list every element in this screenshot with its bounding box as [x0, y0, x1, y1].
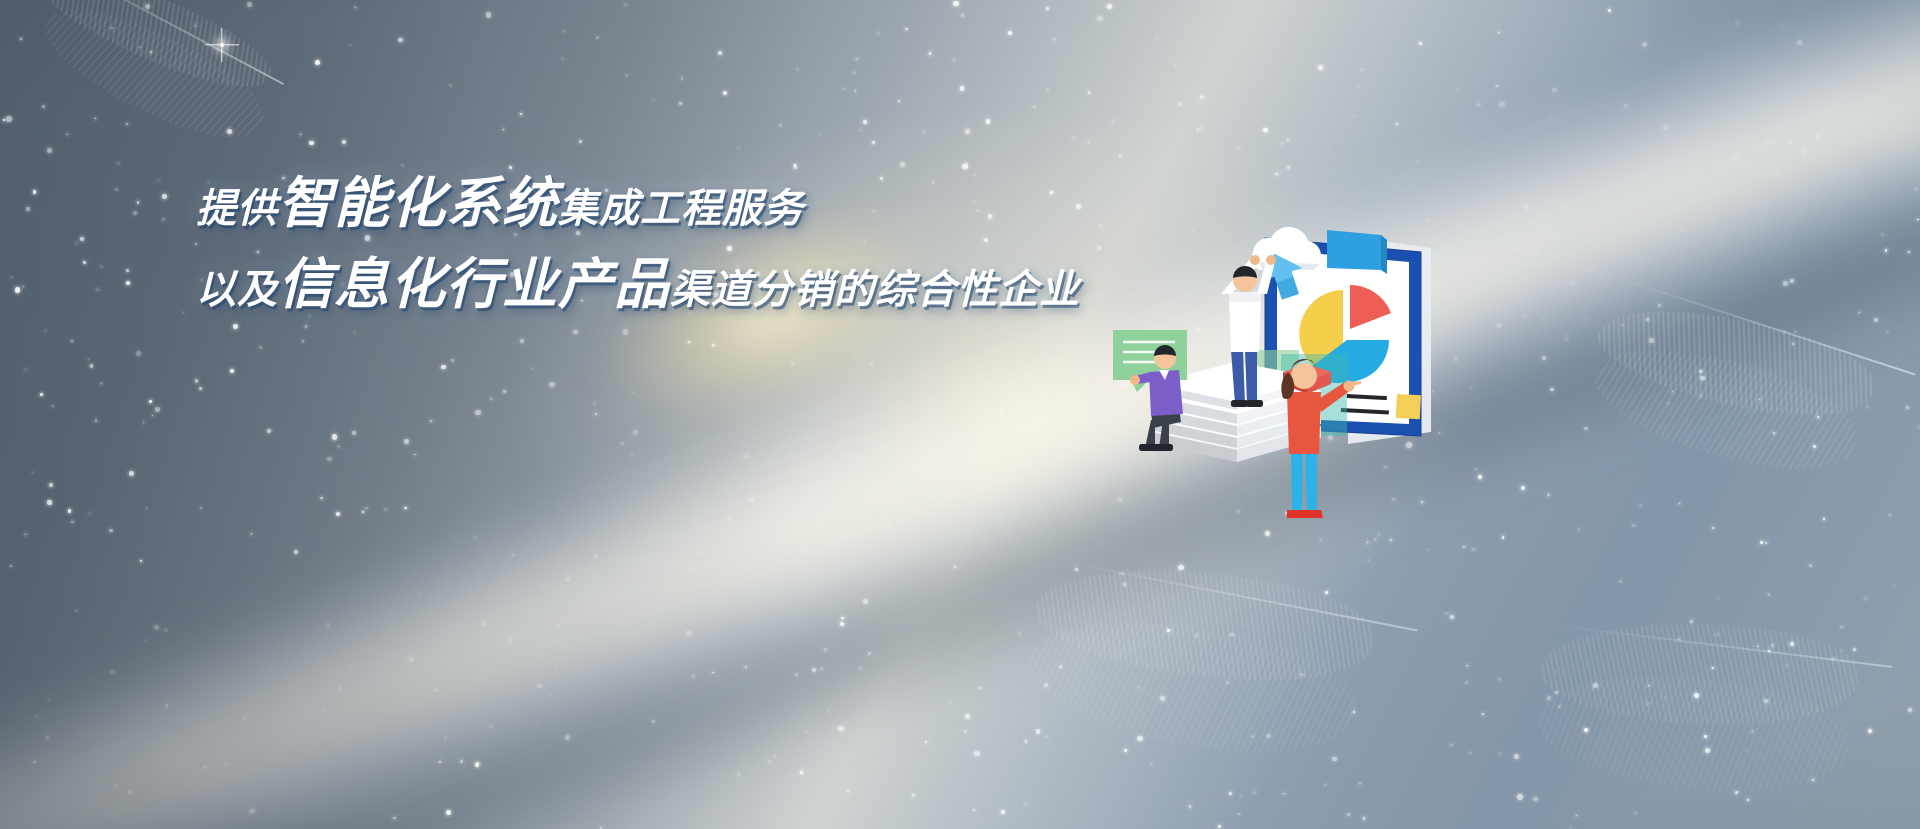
headline-line-2-prefix: 以及 [196, 270, 278, 310]
vignette-overlay [0, 0, 1920, 829]
headline-line-1-prefix: 提供 [196, 189, 278, 229]
clip-tab-icon [1327, 230, 1387, 274]
headline-line-2-emphasis: 信息化行业产品 [278, 257, 670, 312]
hero-banner: 提供智能化系统集成工程服务 以及信息化行业产品渠道分销的综合性企业 [0, 0, 1920, 829]
headline-line-1-emphasis: 智能化系统 [278, 176, 558, 231]
headline-line-1-suffix: 集成工程服务 [558, 189, 804, 229]
headline-line-2: 以及信息化行业产品渠道分销的综合性企业 [196, 257, 1096, 312]
headline-block: 提供智能化系统集成工程服务 以及信息化行业产品渠道分销的综合性企业 [196, 176, 1096, 312]
data-teamwork-illustration [1135, 222, 1495, 552]
headline-line-2-suffix: 渠道分销的综合性企业 [670, 270, 1080, 310]
sticky-note [1396, 394, 1421, 419]
headline-line-1: 提供智能化系统集成工程服务 [196, 176, 1096, 231]
